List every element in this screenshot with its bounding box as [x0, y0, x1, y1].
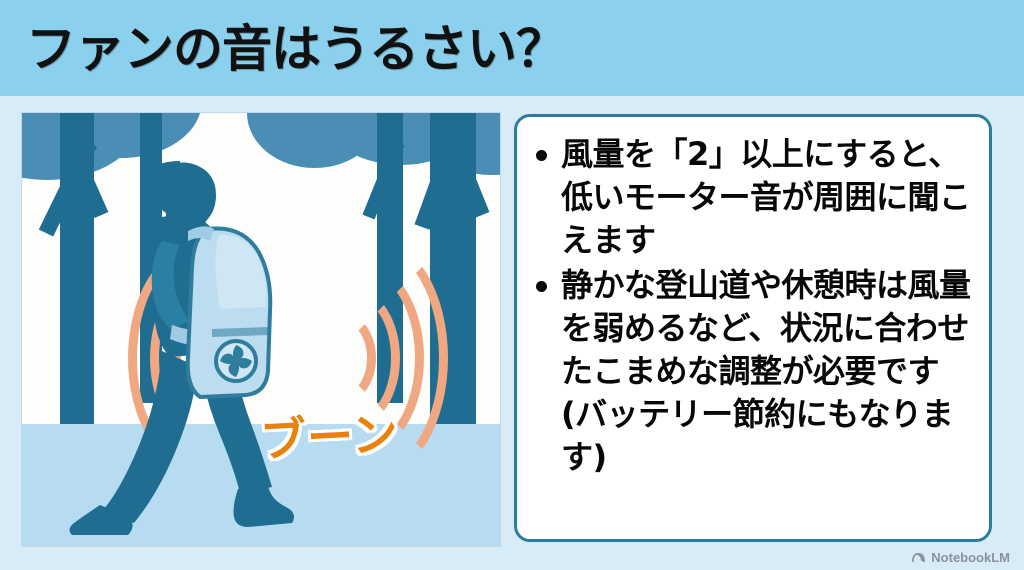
- illustration-panel: ブーン: [22, 113, 500, 546]
- sound-effect-text: ブーン: [258, 397, 400, 470]
- slide: ファンの音はうるさい？: [0, 0, 1024, 570]
- bullet-item: 風量を「2」以上にすると、低いモーター音が周囲に聞こえます: [531, 133, 975, 262]
- bullet-list: 風量を「2」以上にすると、低いモーター音が周囲に聞こえます 静かな登山道や休憩時…: [531, 133, 975, 479]
- notebooklm-icon: [911, 551, 926, 564]
- text-panel: 風量を「2」以上にすると、低いモーター音が周囲に聞こえます 静かな登山道や休憩時…: [514, 114, 992, 542]
- notebooklm-label: NotebookLM: [931, 550, 1010, 565]
- hiker-figure: [22, 113, 500, 546]
- notebooklm-watermark: NotebookLM: [911, 550, 1010, 565]
- page-title: ファンの音はうるさい？: [26, 14, 565, 84]
- bullet-item: 静かな登山道や休憩時は風量を弱めるなど、状況に合わせたこまめな調整が必要です (…: [531, 264, 975, 479]
